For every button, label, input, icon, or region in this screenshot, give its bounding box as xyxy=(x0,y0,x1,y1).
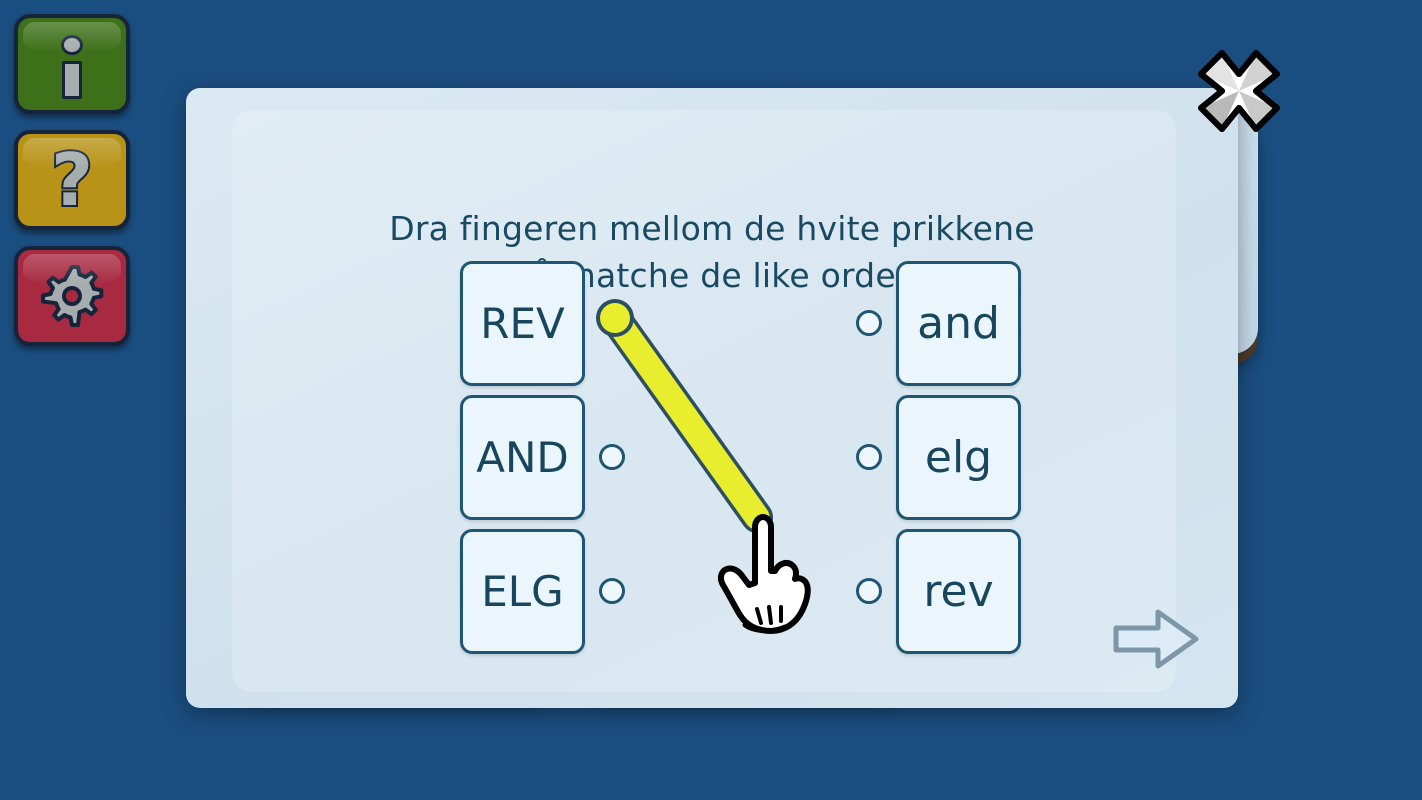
pointing-hand-cursor xyxy=(709,509,819,639)
word-row: AND xyxy=(460,390,639,524)
word-card-rev-lower[interactable]: rev xyxy=(896,529,1021,654)
word-row: ELG xyxy=(460,524,639,658)
word-row: and xyxy=(842,256,1021,390)
dot-and-lower[interactable] xyxy=(856,310,882,336)
info-icon xyxy=(59,35,85,93)
close-icon xyxy=(1201,53,1277,129)
game-screen: 1 2 3 4 5 xyxy=(0,0,1422,800)
word-card-elg-upper[interactable]: ELG xyxy=(460,529,585,654)
help-icon: ? xyxy=(51,144,93,216)
word-card-and-upper[interactable]: AND xyxy=(460,395,585,520)
word-row: elg xyxy=(842,390,1021,524)
sidebar: ? xyxy=(14,14,130,362)
instruction-dialog: Dra fingeren mellom de hvite prikkene fo… xyxy=(186,88,1238,708)
settings-button[interactable] xyxy=(14,246,130,346)
word-row: rev xyxy=(842,524,1021,658)
dot-rev-lower[interactable] xyxy=(856,578,882,604)
gear-icon xyxy=(39,263,105,329)
dot-elg-upper[interactable] xyxy=(599,578,625,604)
close-button[interactable] xyxy=(1192,44,1286,138)
right-word-column: and elg rev xyxy=(842,256,1021,658)
word-card-and-lower[interactable]: and xyxy=(896,261,1021,386)
word-row: REV xyxy=(460,256,639,390)
left-word-column: REV AND ELG xyxy=(460,256,639,658)
dot-and-upper[interactable] xyxy=(599,444,625,470)
info-button[interactable] xyxy=(14,14,130,114)
word-card-elg-lower[interactable]: elg xyxy=(896,395,1021,520)
help-button[interactable]: ? xyxy=(14,130,130,230)
dot-elg-lower[interactable] xyxy=(856,444,882,470)
next-button[interactable] xyxy=(1110,604,1202,674)
word-card-rev-upper[interactable]: REV xyxy=(460,261,585,386)
arrow-right-icon xyxy=(1116,612,1196,666)
